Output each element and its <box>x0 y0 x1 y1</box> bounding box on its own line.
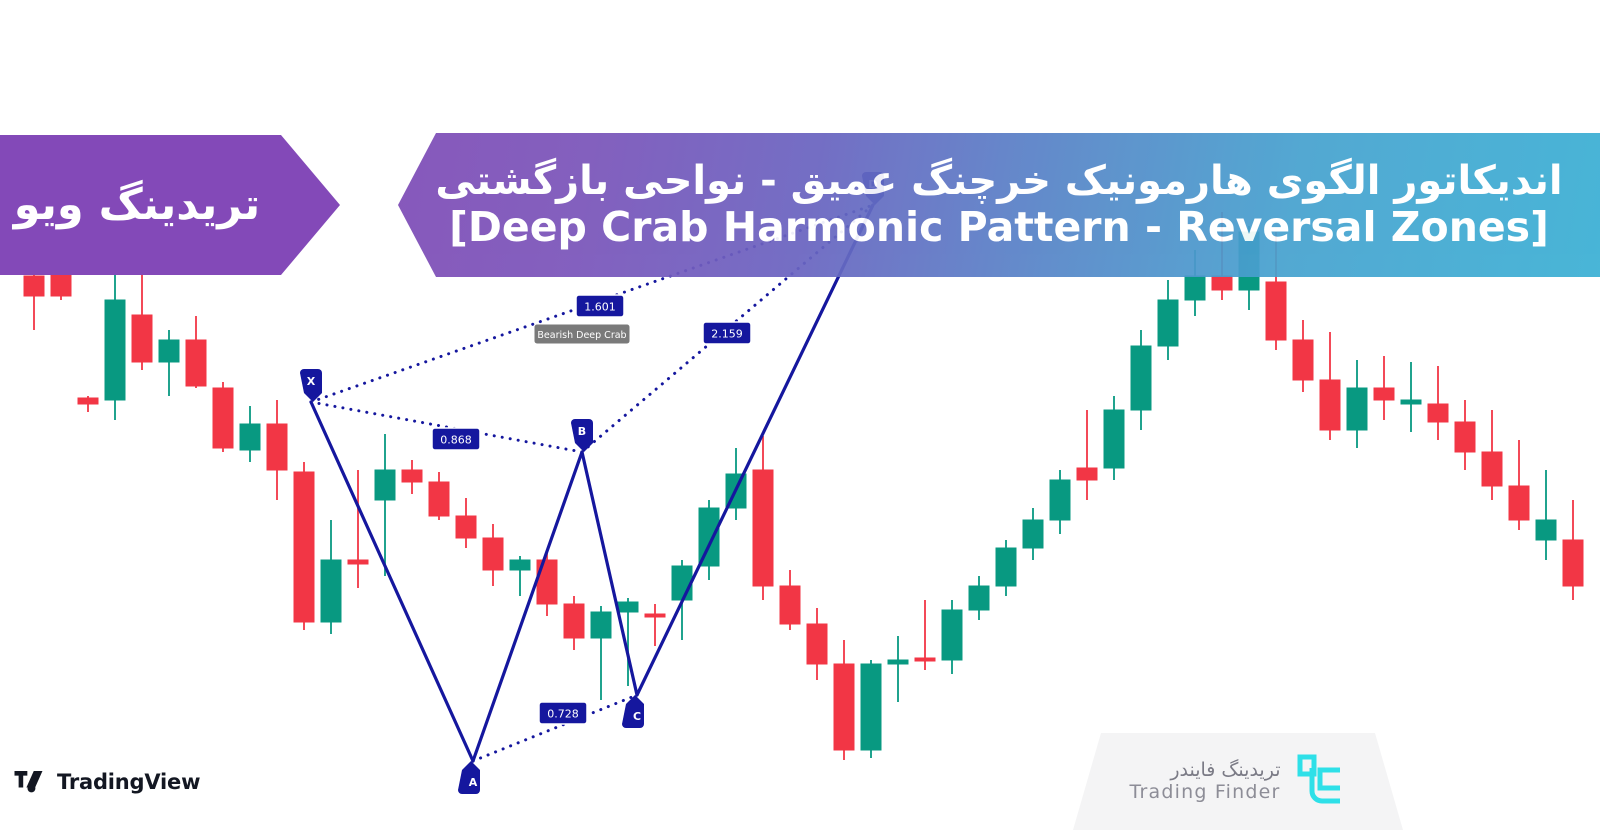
candle <box>1320 332 1340 440</box>
candle <box>375 434 395 576</box>
candle <box>537 550 557 616</box>
candle <box>1131 330 1151 430</box>
candle <box>1374 356 1394 420</box>
candle <box>1077 410 1097 500</box>
candle <box>726 448 746 520</box>
svg-text:0.728: 0.728 <box>547 708 579 721</box>
candle <box>213 382 233 452</box>
candle <box>618 598 638 686</box>
candle <box>1023 508 1043 560</box>
candle <box>861 660 881 758</box>
pattern-point-A: A <box>458 761 480 794</box>
candle <box>807 608 827 680</box>
candle <box>1401 362 1421 432</box>
chart-canvas: 1.6012.1590.8680.728Bearish Deep CrabXAB… <box>0 0 1600 830</box>
ratio-badge: 2.159 <box>703 322 751 344</box>
candle <box>510 556 530 596</box>
pattern-name-label: Bearish Deep Crab <box>534 324 630 344</box>
candle <box>1104 396 1124 480</box>
trading-finder-english: Trading Finder <box>1130 782 1281 803</box>
svg-text:0.868: 0.868 <box>440 434 472 447</box>
pattern-point-C: C <box>622 695 644 728</box>
tradingview-mark-icon <box>14 771 48 793</box>
svg-text:1.601: 1.601 <box>584 301 616 314</box>
candle <box>483 524 503 586</box>
candlestick-chart[interactable]: 1.6012.1590.8680.728Bearish Deep CrabXAB… <box>0 0 1600 830</box>
candle <box>888 636 908 702</box>
candle <box>1428 366 1448 440</box>
candle <box>1293 320 1313 392</box>
candle <box>996 540 1016 596</box>
svg-text:2.159: 2.159 <box>711 328 743 341</box>
candle <box>240 406 260 462</box>
candle <box>1158 280 1178 360</box>
candle <box>456 498 476 548</box>
candle <box>1563 500 1583 600</box>
tradingview-wordmark: TradingView <box>57 770 200 794</box>
screenshot-root: 1.6012.1590.8680.728Bearish Deep CrabXAB… <box>0 0 1600 830</box>
candle <box>402 460 422 494</box>
tradingview-logo: TradingView <box>14 770 200 794</box>
candle <box>834 640 854 760</box>
candle <box>699 500 719 580</box>
candle <box>267 400 287 500</box>
title-english: [Deep Crab Harmonic Pattern - Reversal Z… <box>449 205 1549 249</box>
candle <box>1509 440 1529 530</box>
candle <box>753 436 773 600</box>
pattern-leg-BC <box>582 452 637 695</box>
trading-finder-mark-icon <box>1294 754 1346 810</box>
candle <box>429 472 449 520</box>
svg-text:B: B <box>578 425 586 438</box>
title-persian: اندیکاتور الگوی هارمونیک خرچنگ عمیق - نو… <box>435 160 1562 203</box>
pattern-point-X: X <box>300 369 322 402</box>
trading-finder-text: تریدینگ فایندر Trading Finder <box>1130 760 1281 803</box>
candle <box>915 600 935 670</box>
candle <box>564 596 584 650</box>
trading-finder-persian: تریدینگ فایندر <box>1170 760 1280 781</box>
svg-text:X: X <box>307 375 316 388</box>
pattern-leg-CD <box>637 205 873 695</box>
candle <box>780 570 800 630</box>
candle <box>1536 470 1556 560</box>
candle <box>1455 400 1475 470</box>
candle <box>321 520 341 634</box>
candle <box>294 462 314 630</box>
candle <box>1347 360 1367 448</box>
svg-text:Bearish Deep Crab: Bearish Deep Crab <box>537 330 626 341</box>
brand-badge-label: تریدینگ ویو <box>14 184 286 227</box>
candle <box>78 396 98 412</box>
candle <box>1482 410 1502 500</box>
ratio-badge: 0.868 <box>432 428 480 450</box>
candle <box>969 576 989 620</box>
candle <box>942 600 962 674</box>
ratio-badge: 1.601 <box>576 295 624 317</box>
ratio-badge: 0.728 <box>539 702 587 724</box>
candle <box>159 330 179 396</box>
candle <box>1050 470 1070 534</box>
svg-text:C: C <box>633 710 641 723</box>
svg-text:A: A <box>469 776 478 789</box>
candle <box>591 606 611 700</box>
title-banner: اندیکاتور الگوی هارمونیک خرچنگ عمیق - نو… <box>398 133 1600 277</box>
candle <box>186 316 206 388</box>
trading-finder-logo: تریدینگ فایندر Trading Finder <box>1073 733 1403 830</box>
brand-badge: تریدینگ ویو <box>0 135 340 275</box>
